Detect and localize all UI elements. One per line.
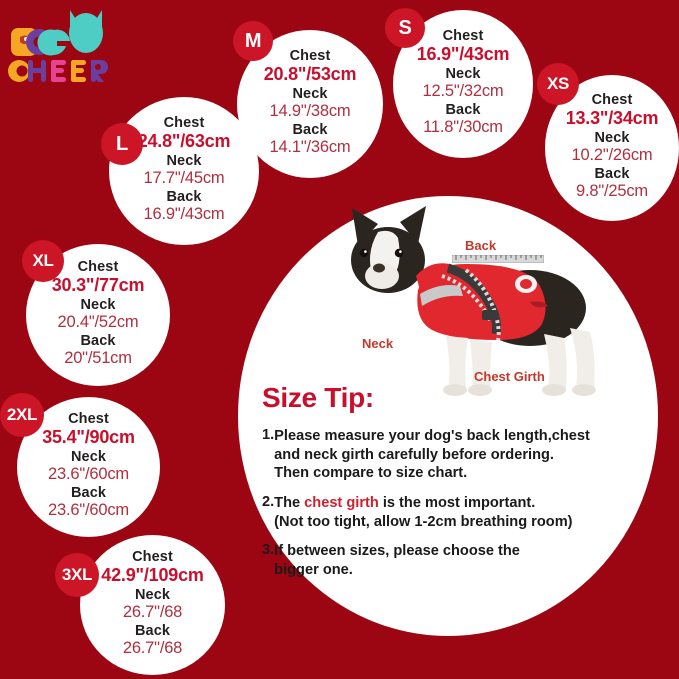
label-neck: Neck: [292, 87, 327, 102]
value-chest: 16.9"/43cm: [417, 45, 510, 64]
label-neck: Neck: [166, 154, 201, 169]
size-badge-label: L: [116, 133, 128, 156]
size-badge-label: 2XL: [7, 405, 37, 425]
value-neck: 12.5"/32cm: [423, 83, 504, 100]
size-tip-number: 2.: [262, 494, 274, 531]
size-badge-m[interactable]: M: [233, 21, 273, 61]
value-back: 16.9"/43cm: [144, 206, 225, 223]
label-chest: Chest: [592, 93, 633, 108]
size-badge-l[interactable]: L: [101, 123, 143, 165]
size-tip-item-3: 3. If between sizes, please choose the b…: [262, 542, 614, 579]
size-badge-label: XL: [32, 251, 53, 271]
label-back: Back: [80, 334, 115, 349]
value-back: 11.8"/30cm: [423, 119, 503, 136]
size-tip-post: is the most important.: [379, 495, 536, 511]
size-bubble-l[interactable]: Chest 24.8"/63cm Neck 17.7"/45cm Back 16…: [109, 97, 259, 245]
value-neck: 17.7"/45cm: [144, 170, 225, 187]
size-badge-s[interactable]: S: [385, 8, 425, 48]
size-chart-page: Back Neck Chest Girth Chest 24.8"/63cm N…: [0, 0, 679, 679]
label-chest: Chest: [78, 260, 119, 275]
size-tip-line: Then compare to size chart.: [274, 465, 467, 481]
label-neck: Neck: [71, 450, 106, 465]
label-neck: Neck: [445, 67, 480, 82]
label-neck: Neck: [80, 298, 115, 313]
size-tip-block: Size Tip: 1. Please measure your dog's b…: [262, 382, 614, 591]
size-badge-label: S: [398, 17, 411, 40]
value-chest: 35.4"/90cm: [42, 428, 135, 447]
label-back: Back: [594, 167, 629, 182]
size-bubble-3xl[interactable]: Chest 42.9"/109cm Neck 26.7"/68 Back 26.…: [80, 535, 225, 675]
value-back: 26.7"/68: [123, 640, 182, 657]
size-tip-line: bigger one.: [274, 562, 353, 578]
size-tip-line: If between sizes, please choose the: [274, 543, 520, 559]
label-neck: Neck: [135, 588, 170, 603]
label-neck: Neck: [594, 131, 629, 146]
label-chest: Chest: [290, 49, 331, 64]
size-tip-item-1: 1. Please measure your dog's back length…: [262, 427, 614, 483]
value-chest: 42.9"/109cm: [101, 566, 203, 585]
size-tip-text: Please measure your dog's back length,ch…: [274, 427, 590, 483]
size-badge-xl[interactable]: XL: [22, 240, 64, 282]
value-back: 14.1"/36cm: [270, 139, 351, 156]
diagram-label-neck: Neck: [362, 336, 393, 351]
diagram-label-back: Back: [465, 238, 496, 253]
size-badge-label: 3XL: [62, 565, 92, 585]
size-tip-line: and neck girth carefully before ordering…: [274, 447, 554, 463]
label-back: Back: [445, 103, 480, 118]
label-chest: Chest: [443, 29, 484, 44]
brand-logo: [8, 6, 128, 88]
chest-girth-highlight: chest girth: [304, 495, 379, 511]
value-neck: 20.4"/52cm: [58, 314, 139, 331]
size-tip-title: Size Tip:: [262, 382, 614, 414]
label-back: Back: [135, 624, 170, 639]
label-back: Back: [166, 190, 201, 205]
value-neck: 26.7"/68: [123, 604, 182, 621]
size-badge-xs[interactable]: XS: [537, 63, 579, 105]
dog-cheer-logo-icon: [8, 6, 128, 88]
size-tip-pre: The: [274, 495, 304, 511]
size-badge-3xl[interactable]: 3XL: [55, 553, 99, 597]
label-chest: Chest: [68, 412, 109, 427]
value-chest: 13.3"/34cm: [566, 109, 659, 128]
size-badge-2xl[interactable]: 2XL: [0, 393, 44, 437]
size-tip-text: If between sizes, please choose the bigg…: [274, 542, 520, 579]
value-neck: 14.9"/38cm: [270, 103, 351, 120]
size-tip-item-2: 2. The chest girth is the most important…: [262, 494, 614, 531]
size-tip-number: 3.: [262, 542, 274, 579]
label-chest: Chest: [132, 550, 173, 565]
measuring-tape-icon: [452, 255, 544, 263]
value-back: 20"/51cm: [64, 350, 132, 367]
value-chest: 30.3"/77cm: [52, 276, 145, 295]
value-chest: 20.8"/53cm: [264, 65, 357, 84]
size-tip-line: (Not too tight, allow 1-2cm breathing ro…: [274, 514, 572, 530]
label-back: Back: [292, 123, 327, 138]
size-tip-number: 1.: [262, 427, 274, 483]
value-neck: 23.6"/60cm: [48, 466, 129, 483]
size-badge-label: XS: [547, 74, 569, 94]
value-back: 23.6"/60cm: [48, 502, 129, 519]
label-back: Back: [71, 486, 106, 501]
value-chest: 24.8"/63cm: [138, 132, 231, 151]
size-badge-label: M: [245, 30, 261, 53]
size-tip-line: Please measure your dog's back length,ch…: [274, 428, 590, 444]
value-neck: 10.2"/26cm: [572, 147, 653, 164]
label-chest: Chest: [164, 116, 205, 131]
size-tip-text: The chest girth is the most important. (…: [274, 494, 572, 531]
